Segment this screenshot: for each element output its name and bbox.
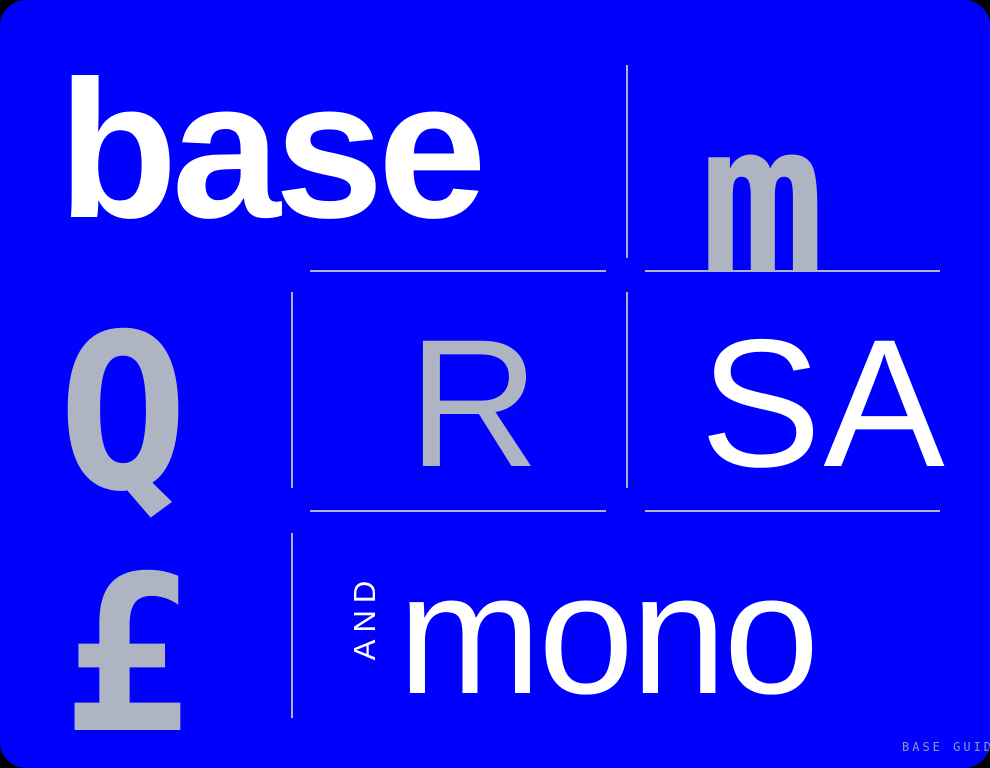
divider-horizontal-bottom-left — [310, 510, 606, 512]
letters-sa-specimen: SA — [700, 312, 947, 494]
divider-vertical-row1 — [626, 65, 628, 258]
glyph-q-specimen: Q — [58, 306, 188, 522]
base-wordmark: base — [58, 52, 481, 248]
divider-horizontal-top-left — [310, 270, 606, 272]
typography-specimen-poster: base m Q R SA £ AND mono BASE GUIDELINES — [0, 0, 990, 768]
divider-vertical-row2-left — [291, 292, 293, 488]
footer-caption: BASE GUIDELINES — [902, 740, 990, 754]
divider-horizontal-bottom-right — [645, 510, 940, 512]
glyph-pound-sign-specimen: £ — [62, 548, 192, 764]
mono-wordmark: mono — [398, 548, 816, 720]
divider-vertical-row3 — [291, 533, 293, 718]
divider-vertical-row2-right — [626, 292, 628, 488]
glyph-m-specimen: m — [700, 96, 825, 304]
glyph-r-specimen: R — [408, 312, 539, 494]
